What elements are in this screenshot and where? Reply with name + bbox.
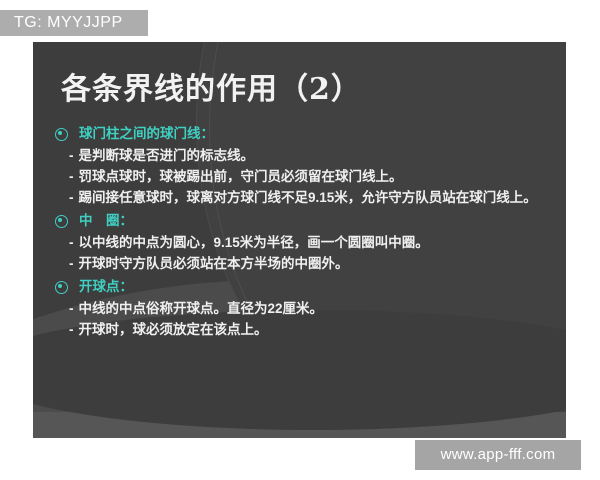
list-item: - 罚球点球时，球被踢出前，守门员必须留在球门线上。 [55, 166, 546, 187]
target-circle-icon [55, 281, 68, 294]
slide-body-list: 球门柱之间的球门线： - 是判断球是否进门的标志线。 - 罚球点球时，球被踢出前… [55, 124, 546, 343]
list-item: - 开球时守方队员必须站在本方半场的中圈外。 [55, 253, 546, 274]
list-item-text: 踢间接任意球时，球离对方球门线不足9.15米，允许守方队员站在球门线上。 [79, 187, 547, 208]
channel-tag: TG: MYYJJPP [0, 10, 148, 36]
target-circle-icon [55, 215, 68, 228]
dash-marker: - [69, 319, 74, 340]
list-item: - 是判断球是否进门的标志线。 [55, 145, 546, 166]
presentation-slide: 各条界线的作用（2） 球门柱之间的球门线： - 是判断球是否进门的标志线。 - … [33, 42, 566, 438]
list-item-text: 开球时守方队员必须站在本方半场的中圈外。 [79, 253, 547, 274]
group-heading-label: 中 圈： [79, 211, 133, 231]
slide-content: 各条界线的作用（2） 球门柱之间的球门线： - 是判断球是否进门的标志线。 - … [33, 42, 566, 438]
footer-watermark: www.app-fff.com [415, 440, 581, 470]
target-circle-icon [55, 128, 68, 141]
content-group: 开球点： - 中线的中点俗称开球点。直径为22厘米。 - 开球时，球必须放定在该… [55, 277, 546, 340]
page-title: 各条界线的作用（2） [61, 64, 362, 108]
content-group: 球门柱之间的球门线： - 是判断球是否进门的标志线。 - 罚球点球时，球被踢出前… [55, 124, 546, 208]
group-heading: 球门柱之间的球门线： [55, 124, 546, 144]
list-item-text: 是判断球是否进门的标志线。 [79, 145, 547, 166]
list-item: - 踢间接任意球时，球离对方球门线不足9.15米，允许守方队员站在球门线上。 [55, 187, 546, 208]
group-heading-label: 开球点： [79, 277, 133, 297]
list-item-text: 开球时，球必须放定在该点上。 [79, 319, 547, 340]
content-group: 中 圈： - 以中线的中点为圆心，9.15米为半径，画一个圆圈叫中圈。 - 开球… [55, 211, 546, 274]
dash-marker: - [69, 166, 74, 187]
list-item: - 以中线的中点为圆心，9.15米为半径，画一个圆圈叫中圈。 [55, 232, 546, 253]
list-item-text: 罚球点球时，球被踢出前，守门员必须留在球门线上。 [79, 166, 547, 187]
group-heading: 中 圈： [55, 211, 546, 231]
dash-marker: - [69, 253, 74, 274]
dash-marker: - [69, 187, 74, 208]
list-item-text: 中线的中点俗称开球点。直径为22厘米。 [79, 298, 547, 319]
list-item: - 开球时，球必须放定在该点上。 [55, 319, 546, 340]
group-heading: 开球点： [55, 277, 546, 297]
list-item-text: 以中线的中点为圆心，9.15米为半径，画一个圆圈叫中圈。 [79, 232, 547, 253]
group-heading-label: 球门柱之间的球门线： [79, 124, 214, 144]
dash-marker: - [69, 232, 74, 253]
dash-marker: - [69, 145, 74, 166]
list-item: - 中线的中点俗称开球点。直径为22厘米。 [55, 298, 546, 319]
dash-marker: - [69, 298, 74, 319]
